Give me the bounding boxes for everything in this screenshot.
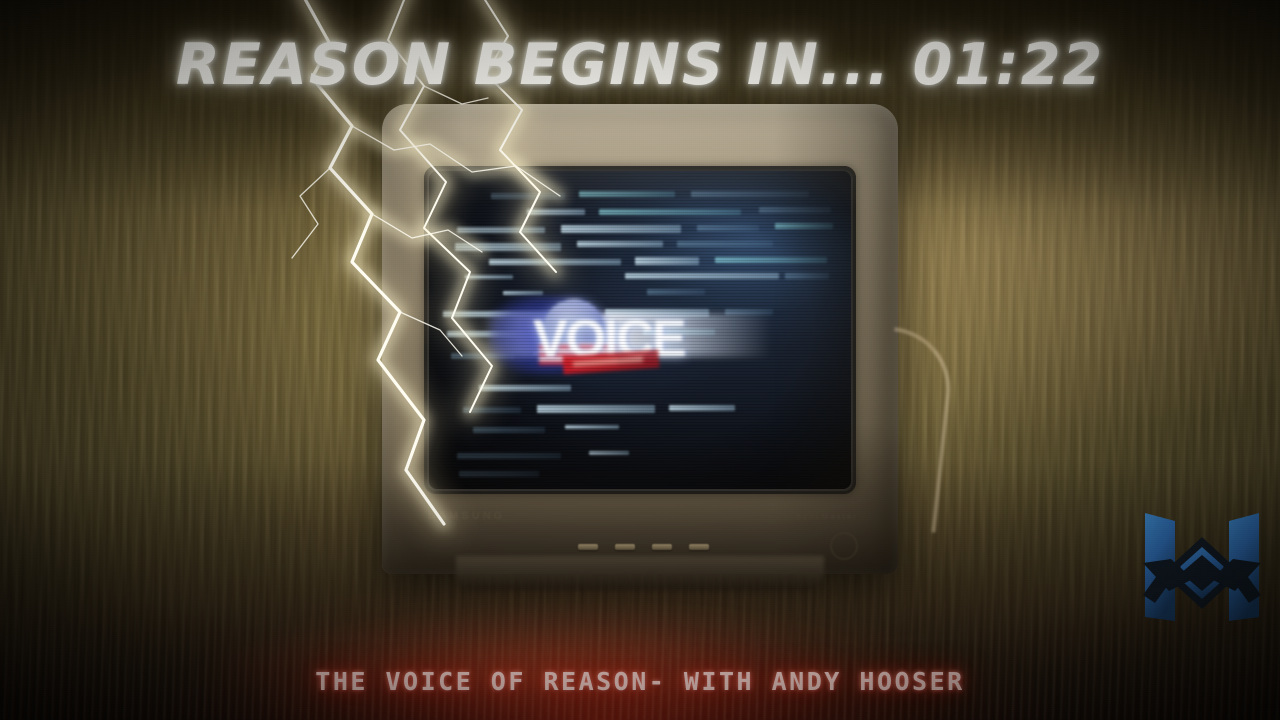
screen-text-line xyxy=(677,241,773,247)
screen-text-line xyxy=(455,243,561,251)
screen-text-line xyxy=(625,273,779,279)
screen-text-line xyxy=(561,225,681,233)
screen-text-line xyxy=(589,451,629,455)
screen-text-line xyxy=(697,225,759,231)
power-button[interactable] xyxy=(830,532,858,560)
screen-text-line xyxy=(565,425,619,429)
screen-text-line xyxy=(459,471,539,477)
video-frame: VOICE SAMSUNG SyncMaster xyxy=(0,0,1280,720)
minus-button[interactable] xyxy=(615,544,635,550)
plus-button[interactable] xyxy=(652,544,672,550)
screen-text-line xyxy=(473,427,545,433)
enter-button[interactable] xyxy=(689,544,709,550)
voice-of-reason-logo: VOICE xyxy=(481,289,771,381)
screen-text-line xyxy=(775,223,833,229)
crt-monitor: VOICE SAMSUNG SyncMaster xyxy=(382,104,898,574)
screen-text-line xyxy=(491,193,565,199)
screen-text-line xyxy=(463,407,521,413)
menu-button[interactable] xyxy=(578,544,598,550)
screen-text-line xyxy=(759,207,831,213)
screen-text-line xyxy=(527,209,585,215)
monitor-button-row[interactable] xyxy=(578,544,709,550)
screen-text-line xyxy=(457,453,561,459)
screen-text-line xyxy=(785,273,829,279)
screen-text-line xyxy=(599,209,741,215)
screen-bezel: VOICE xyxy=(424,166,856,494)
screen-text-line xyxy=(465,275,513,279)
screen-text-line xyxy=(715,257,827,263)
screen-text-line xyxy=(635,257,699,265)
monitor-base xyxy=(456,556,824,590)
monitor-side-label: SyncMaster xyxy=(796,512,858,521)
crt-screen: VOICE xyxy=(429,171,851,489)
monitor-brand-label: SAMSUNG xyxy=(428,510,505,522)
screen-text-line xyxy=(479,385,571,391)
screen-text-line xyxy=(691,191,809,197)
screen-text-line xyxy=(537,405,655,413)
screen-text-line xyxy=(577,241,663,247)
screen-text-line xyxy=(669,405,735,411)
screen-text-line xyxy=(457,227,545,233)
screen-text-line xyxy=(579,191,675,197)
screen-text-line xyxy=(489,259,621,265)
